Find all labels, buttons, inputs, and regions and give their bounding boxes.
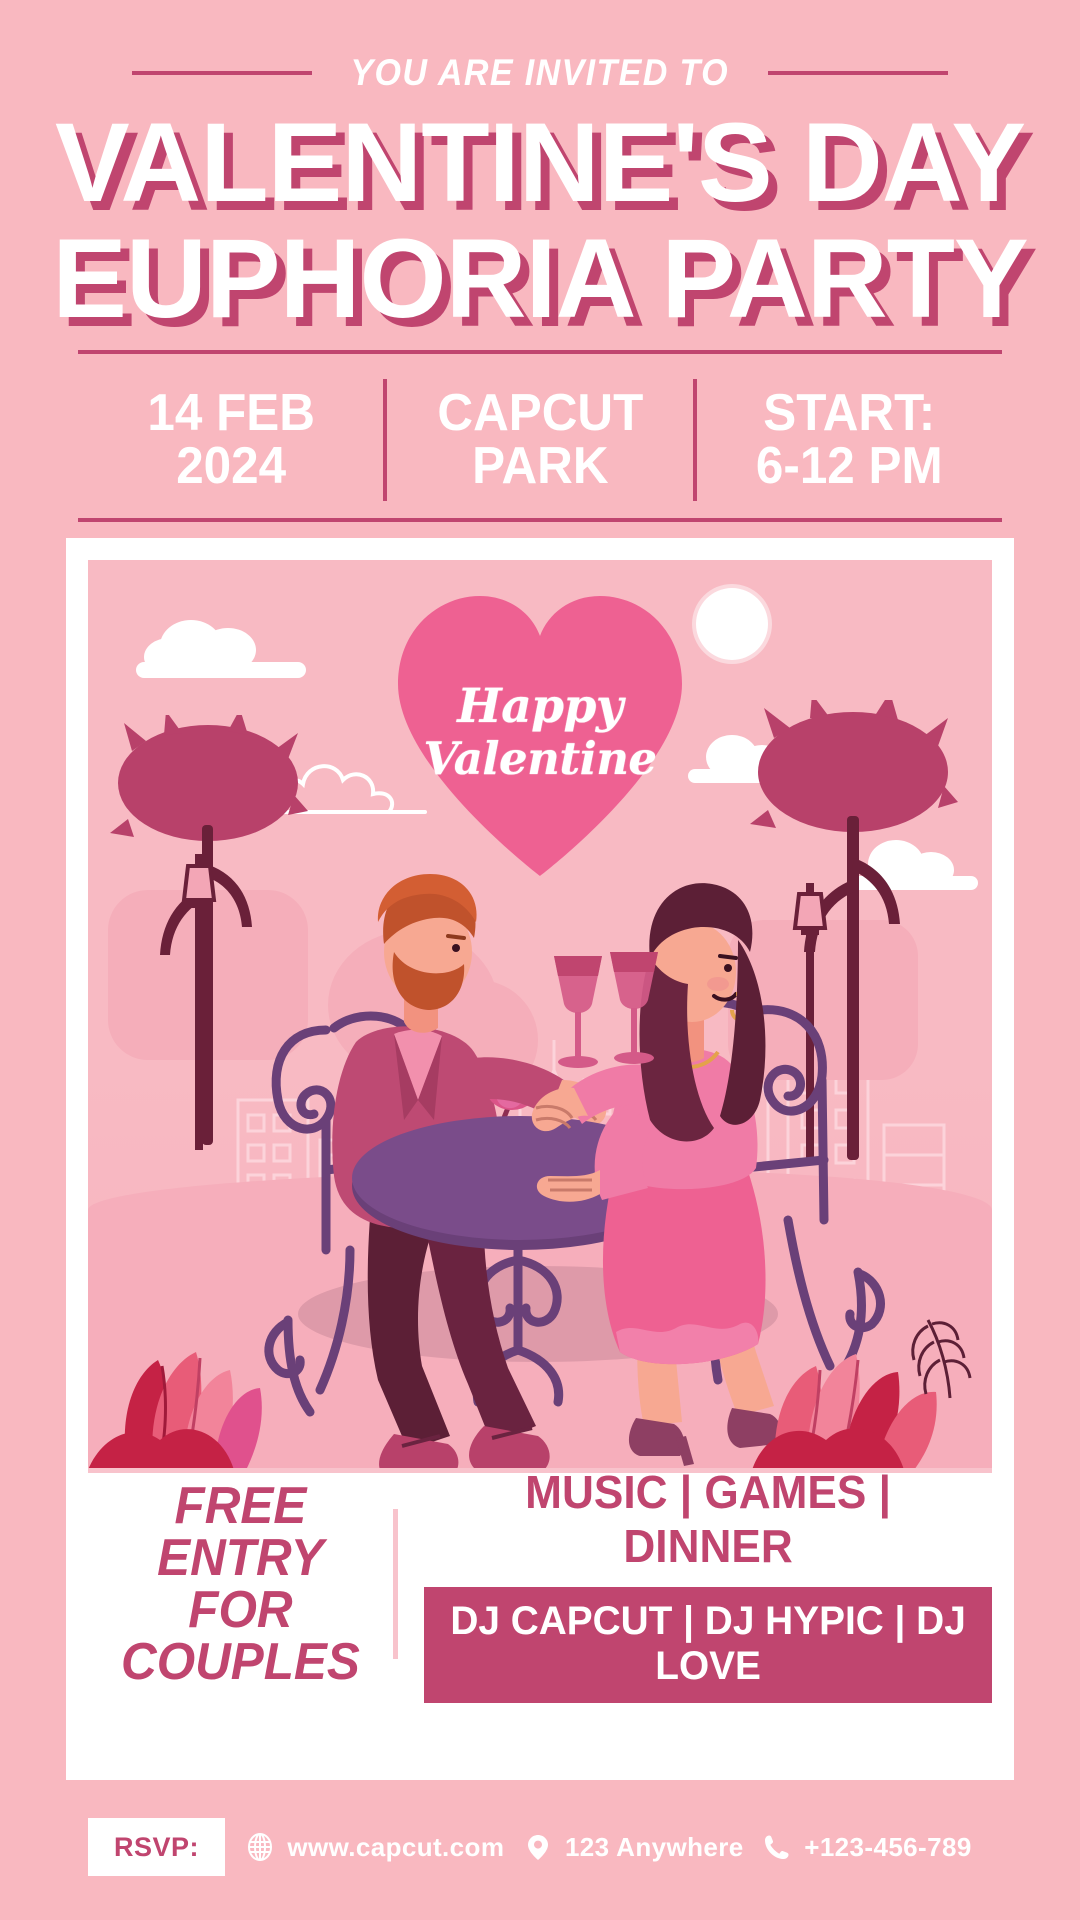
- detail-venue: CAPCUT PARK: [387, 366, 692, 514]
- foliage-right-icon: [742, 1280, 992, 1470]
- wine-glass-left-icon: [554, 956, 602, 1068]
- rsvp-phone[interactable]: +123-456-789: [762, 1832, 971, 1863]
- foliage-left-icon: [88, 1290, 318, 1470]
- invite-header: YOU ARE INVITED TO: [0, 48, 1080, 98]
- detail-time-line1: START:: [756, 387, 943, 440]
- info-divider: [393, 1509, 398, 1659]
- free-entry-block: FREE ENTRY FOR COUPLES: [96, 1480, 386, 1688]
- rsvp-website[interactable]: www.capcut.com: [245, 1832, 504, 1863]
- illustration-scene: Happy Valentine: [88, 560, 992, 1470]
- rsvp-label: RSVP:: [88, 1818, 225, 1876]
- rsvp-website-text: www.capcut.com: [287, 1832, 504, 1863]
- detail-time: START: 6-12 PM: [697, 366, 1002, 514]
- detail-date-line1: 14 FEB: [147, 387, 314, 440]
- globe-icon: [245, 1832, 275, 1862]
- location-pin-icon: [523, 1832, 553, 1862]
- title-line-1: VALENTINE'S DAY: [0, 108, 1080, 218]
- activities-block: MUSIC | GAMES | DINNER DJ CAPCUT | DJ HY…: [424, 1465, 992, 1703]
- detail-date: 14 FEB 2024: [78, 366, 383, 514]
- info-row: FREE ENTRY FOR COUPLES MUSIC | GAMES | D…: [88, 1484, 992, 1684]
- phone-icon: [762, 1832, 792, 1862]
- divider-bottom: [78, 518, 1002, 522]
- detail-time-line2: 6-12 PM: [756, 440, 943, 493]
- rsvp-address[interactable]: 123 Anywhere: [523, 1832, 744, 1863]
- detail-date-line2: 2024: [147, 440, 314, 493]
- event-details-row: 14 FEB 2024 CAPCUT PARK START: 6-12 PM: [78, 366, 1002, 514]
- free-entry-line2: FOR COUPLES: [96, 1584, 386, 1688]
- invite-rule-left: [132, 71, 312, 75]
- dj-lineup-bar: DJ CAPCUT | DJ HYPIC | DJ LOVE: [424, 1587, 992, 1703]
- free-entry-line1: FREE ENTRY: [96, 1480, 386, 1584]
- title-line-2: EUPHORIA PARTY: [0, 224, 1080, 334]
- detail-venue-line1: CAPCUT: [437, 387, 643, 440]
- activities-line: MUSIC | GAMES | DINNER: [435, 1465, 980, 1573]
- rsvp-phone-text: +123-456-789: [804, 1832, 971, 1863]
- divider-top: [78, 350, 1002, 354]
- dj-lineup-text: DJ CAPCUT | DJ HYPIC | DJ LOVE: [438, 1599, 977, 1689]
- rsvp-items: www.capcut.com 123 Anywhere +123-456-789: [225, 1818, 992, 1876]
- detail-venue-line2: PARK: [437, 440, 643, 493]
- rsvp-footer: RSVP: www.capcut.com: [88, 1818, 992, 1876]
- invite-text: YOU ARE INVITED TO: [351, 52, 730, 94]
- page-title: VALENTINE'S DAY EUPHORIA PARTY: [0, 108, 1080, 334]
- rsvp-address-text: 123 Anywhere: [565, 1832, 744, 1863]
- invite-rule-right: [768, 71, 948, 75]
